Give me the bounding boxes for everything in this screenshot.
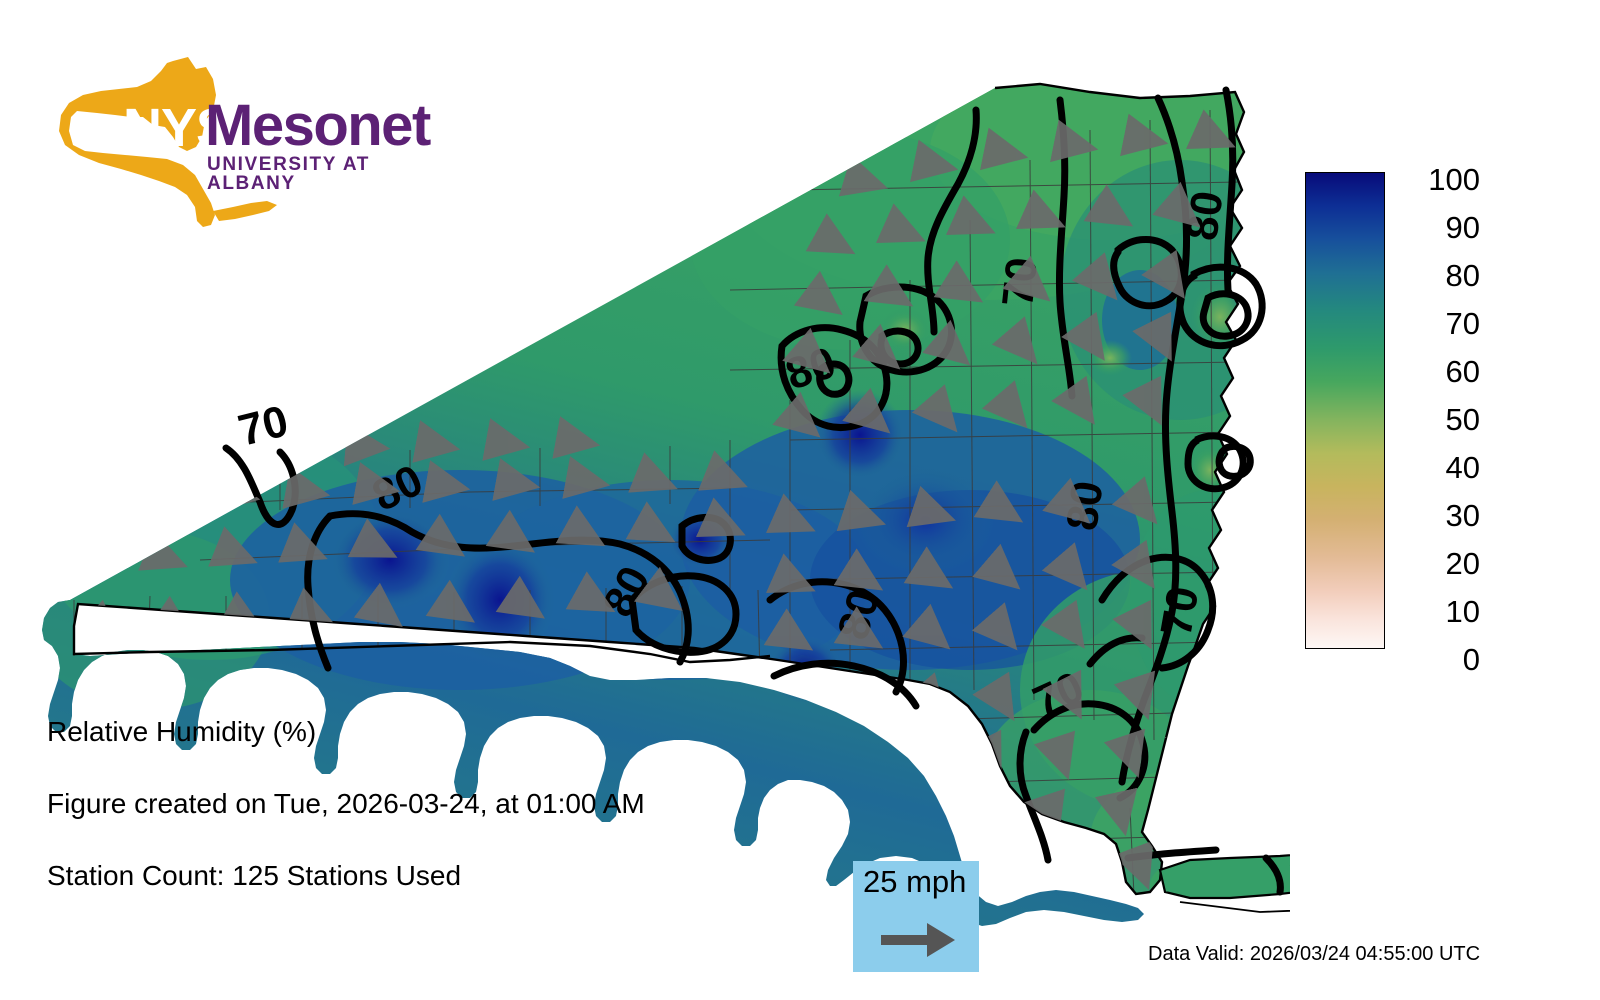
- data-valid-timestamp: Data Valid: 2026/03/24 04:55:00 UTC: [1148, 943, 1480, 966]
- colorbar-tick-50: 50: [1446, 404, 1480, 435]
- caption-block: Relative Humidity (%) Figure created on …: [47, 718, 807, 934]
- wind-arrow-icon: [881, 919, 957, 961]
- colorbar-gradient: [1306, 173, 1384, 648]
- colorbar-tick-10: 10: [1446, 596, 1480, 627]
- colorbar-tick-labels: 100 90 80 70 60 50 40 30 20 10 0: [1400, 160, 1480, 660]
- created-time: Figure created on Tue, 2026-03-24, at 01…: [47, 790, 807, 818]
- colorbar-tick-60: 60: [1446, 356, 1480, 387]
- wind-key-label: 25 mph: [863, 865, 966, 899]
- colorbar-tick-30: 30: [1446, 500, 1480, 531]
- wind-speed-key: 25 mph: [853, 861, 979, 972]
- colorbar-tick-20: 20: [1446, 548, 1480, 579]
- svg-text:70: 70: [1152, 583, 1209, 640]
- colorbar-tick-40: 40: [1446, 452, 1480, 483]
- colorbar-tick-100: 100: [1428, 164, 1480, 195]
- colorbar-tick-90: 90: [1446, 212, 1480, 243]
- colorbar-tick-80: 80: [1446, 260, 1480, 291]
- svg-text:80: 80: [1057, 478, 1112, 533]
- colorbar: [1305, 172, 1385, 649]
- svg-text:70: 70: [993, 255, 1047, 309]
- station-count: Station Count: 125 Stations Used: [47, 862, 807, 890]
- page-title: Relative Humidity (%): [47, 718, 807, 746]
- svg-text:70: 70: [234, 396, 293, 455]
- colorbar-tick-0: 0: [1463, 644, 1480, 675]
- colorbar-tick-70: 70: [1446, 308, 1480, 339]
